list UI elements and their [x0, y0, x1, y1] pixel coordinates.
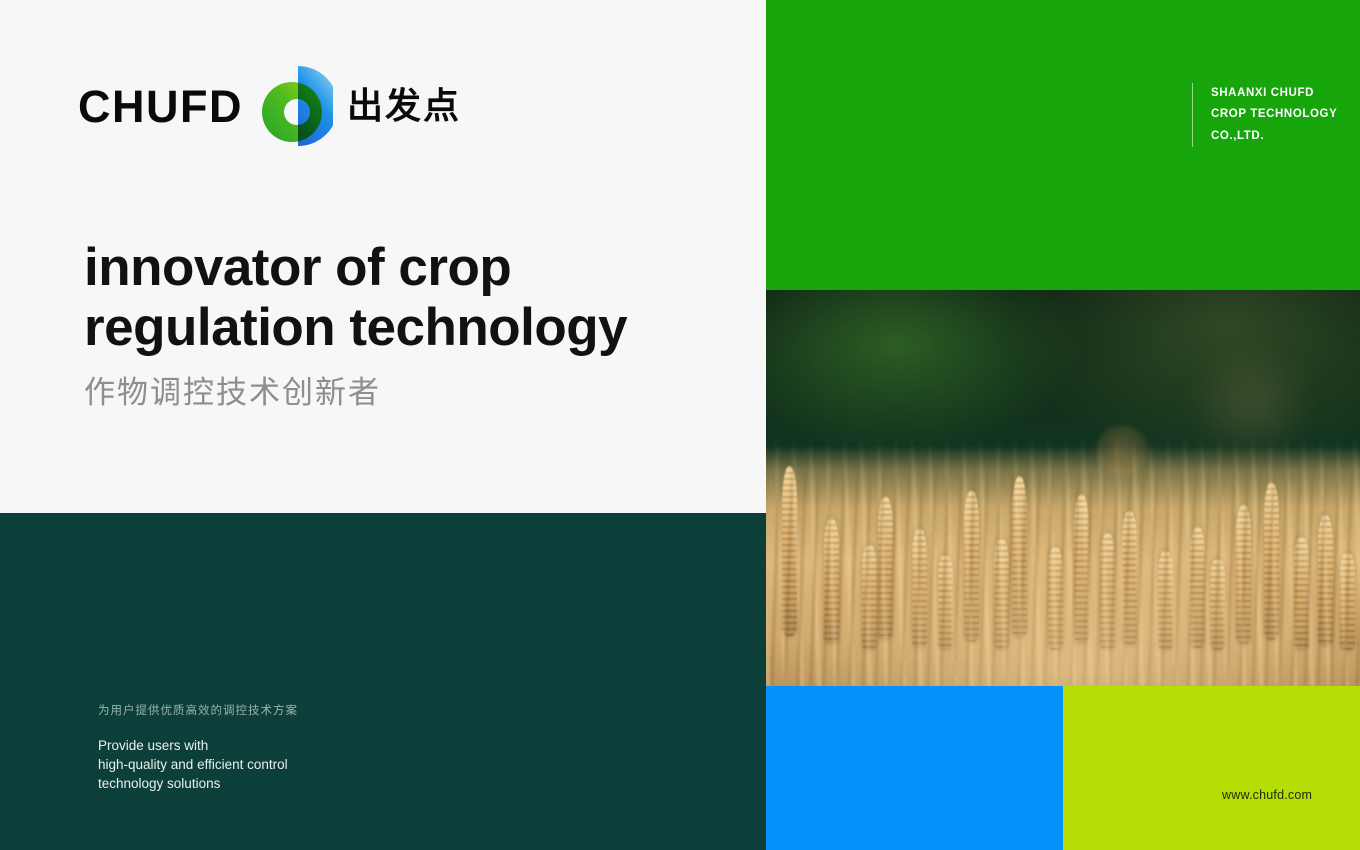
headline-line-1: innovator of crop	[84, 238, 511, 297]
website-url[interactable]: www.chufd.com	[1222, 788, 1312, 802]
footer-english-tagline: Provide users with high-quality and effi…	[98, 736, 298, 793]
company-name-block: SHAANXI CHUFD CROP TECHNOLOGY CO.,LTD.	[1192, 83, 1337, 147]
footer-english-line-1: Provide users with	[98, 736, 298, 755]
company-name-line-2: CROP TECHNOLOGY	[1211, 104, 1337, 125]
photo-stalk-texture	[766, 436, 1360, 686]
headline-subtitle: 作物调控技术创新者	[84, 374, 724, 411]
left-teal-panel	[0, 513, 766, 850]
headline-line-2: regulation technology	[84, 298, 627, 357]
wheat-field-photo	[766, 290, 1360, 686]
brand-cover-poster: CHUFD	[0, 0, 1360, 850]
footer-text-block: 为用户提供优质高效的调控技术方案 Provide users with high…	[98, 703, 298, 794]
logo-chinese-name: 出发点	[347, 88, 461, 124]
lime-color-block	[1063, 686, 1360, 850]
company-name-line-3: CO.,LTD.	[1211, 126, 1337, 147]
footer-english-line-3: technology solutions	[98, 774, 298, 793]
footer-chinese-tagline: 为用户提供优质高效的调控技术方案	[98, 703, 298, 719]
company-name-line-1: SHAANXI CHUFD	[1211, 83, 1337, 104]
footer-english-line-2: high-quality and efficient control	[98, 755, 298, 774]
headline-text: innovator of crop regulation technology	[84, 238, 724, 358]
blue-color-block	[766, 686, 1063, 850]
chufd-circle-logo-icon	[259, 60, 333, 152]
headline-block: innovator of crop regulation technology …	[84, 238, 724, 411]
logo-wordmark: CHUFD	[78, 84, 243, 129]
logo-lockup: CHUFD	[78, 60, 461, 152]
